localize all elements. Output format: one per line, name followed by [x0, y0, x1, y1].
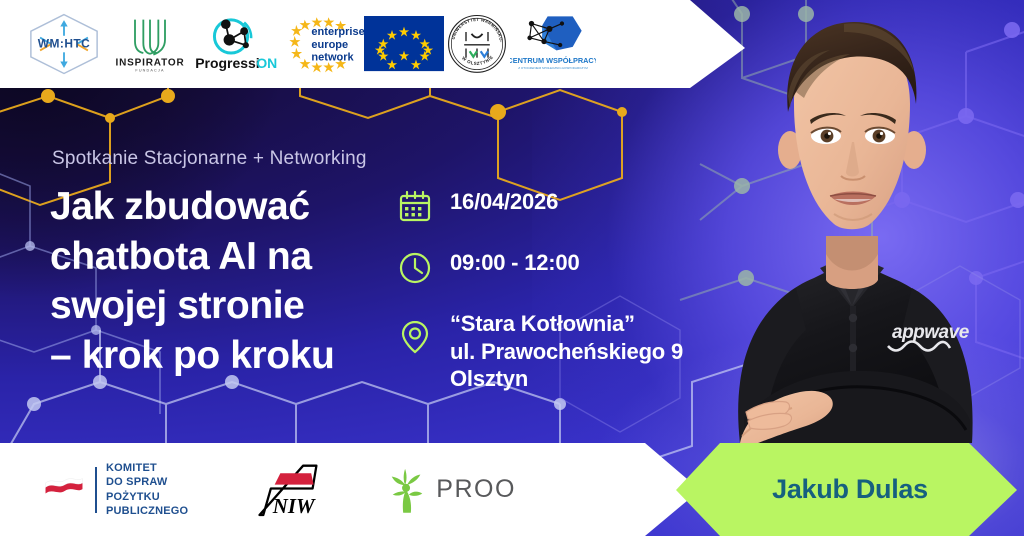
niw-logo: NIW — [250, 453, 324, 527]
svg-text:UNIWERSYTET WARMIŃSKO-MAZURSKI: UNIWERSYTET WARMIŃSKO-MAZURSKI — [444, 10, 504, 43]
proo-mark-icon — [386, 465, 428, 515]
calendar-icon — [398, 190, 432, 224]
svg-text:CENTRUM WSPÓŁPRACY: CENTRUM WSPÓŁPRACY — [510, 56, 596, 65]
proo-logo: PROO — [386, 465, 516, 515]
komitet-logo-text: KOMITET DO SPRAW POŻYTKU PUBLICZNEGO — [106, 461, 188, 517]
title-line: swojej stronie — [50, 281, 395, 331]
footer-bar: KOMITET DO SPRAW POŻYTKU PUBLICZNEGO NIW — [0, 443, 1024, 536]
enterprise-europe-network-logo: enterprise europe network — [286, 7, 364, 81]
svg-text:europe: europe — [311, 38, 348, 50]
komitet-line: POŻYTKU — [106, 490, 188, 504]
logo-divider — [95, 467, 97, 513]
svg-text:Z OTOCZENIEM SPOŁECZNO-GOSPODA: Z OTOCZENIEM SPOŁECZNO-GOSPODARCZYM — [518, 66, 588, 70]
title-line: Jak zbudować — [50, 182, 395, 232]
event-banner: WM:HTC INSPIRATOR FUNDACJA — [0, 0, 1024, 536]
wmhtc-logo: WM:HTC — [18, 7, 110, 81]
speaker-name: Jakub Dulas — [772, 474, 928, 505]
partner-logo-bar: WM:HTC INSPIRATOR FUNDACJA — [0, 0, 745, 88]
event-time: 09:00 - 12:00 — [450, 249, 580, 277]
title-line: chatbota AI na — [50, 232, 395, 282]
event-details: 16/04/2026 09:00 - 12:00 — [398, 188, 698, 418]
svg-text:WM:HTC: WM:HTC — [38, 37, 90, 51]
footer-logo-bar: KOMITET DO SPRAW POŻYTKU PUBLICZNEGO NIW — [0, 443, 700, 536]
komitet-line: DO SPRAW — [106, 475, 188, 489]
event-date-row: 16/04/2026 — [398, 188, 698, 224]
location-line: “Stara Kotłownia” — [450, 310, 683, 338]
uwm-olsztyn-logo: UNIWERSYTET WARMIŃSKO-MAZURSKI W OLSZTYN… — [444, 7, 510, 81]
event-title: Jak zbudować chatbota AI na swojej stron… — [50, 182, 395, 380]
centrum-wspolpracy-logo: CENTRUM WSPÓŁPRACY Z OTOCZENIEM SPOŁECZN… — [510, 7, 596, 81]
title-line: – krok po kroku — [50, 331, 395, 381]
svg-text:NIW: NIW — [272, 494, 316, 518]
svg-text:enterprise: enterprise — [311, 26, 364, 38]
komitet-line: KOMITET — [106, 461, 188, 475]
svg-text:network: network — [311, 51, 354, 63]
poland-flag-icon — [42, 475, 86, 503]
svg-text:FUNDACJA: FUNDACJA — [135, 68, 164, 72]
komitet-line: PUBLICZNEGO — [106, 504, 188, 518]
location-pin-icon — [398, 320, 432, 354]
proo-wordmark: PROO — [436, 475, 516, 504]
inspirator-logo: INSPIRATOR FUNDACJA — [110, 7, 190, 81]
event-content: Spotkanie Stacjonarne + Networking Jak z… — [0, 88, 700, 443]
svg-text:ON: ON — [256, 55, 277, 71]
speaker-name-badge: Jakub Dulas — [676, 443, 1024, 536]
event-location-row: “Stara Kotłownia” ul. Prawocheńskiego 9 … — [398, 310, 698, 393]
location-line: ul. Prawocheńskiego 9 — [450, 338, 683, 366]
svg-text:INSPIRATOR: INSPIRATOR — [116, 58, 185, 69]
event-time-row: 09:00 - 12:00 — [398, 249, 698, 285]
european-union-flag — [364, 7, 444, 81]
event-date: 16/04/2026 — [450, 188, 558, 216]
clock-icon — [398, 251, 432, 285]
event-subtitle: Spotkanie Stacjonarne + Networking — [52, 148, 367, 170]
komitet-do-spraw-pozytku-publicznego-logo: KOMITET DO SPRAW POŻYTKU PUBLICZNEGO — [42, 461, 188, 517]
svg-text:Progressi: Progressi — [195, 55, 259, 71]
location-line: Olsztyn — [450, 365, 683, 393]
event-location: “Stara Kotłownia” ul. Prawocheńskiego 9 … — [450, 310, 683, 393]
progression-logo: Progressi ON — [190, 7, 286, 81]
